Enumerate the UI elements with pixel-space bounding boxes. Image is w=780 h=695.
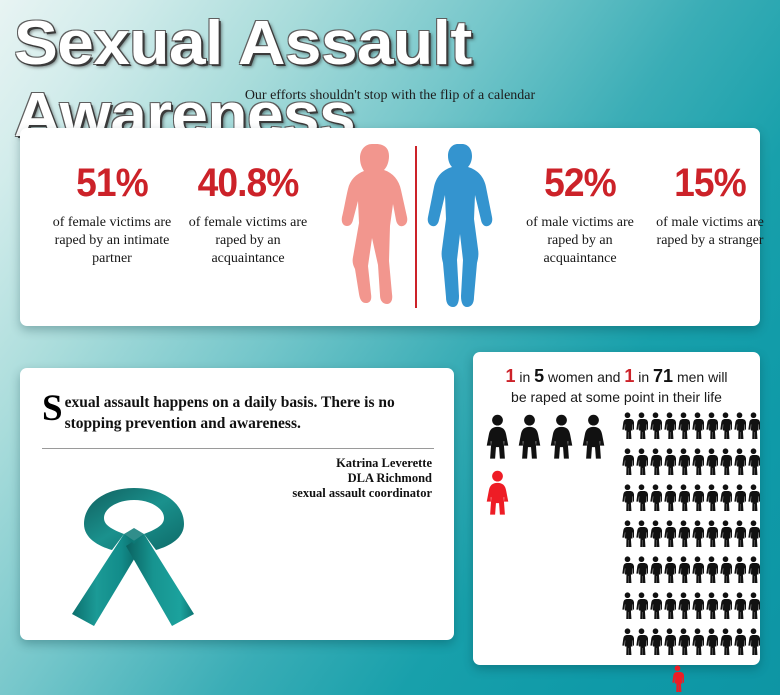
male-figure-icon xyxy=(677,412,690,444)
attribution-org: DLA Richmond xyxy=(102,471,432,486)
male-figure-icon xyxy=(691,448,704,480)
male-figure-icon xyxy=(705,628,718,660)
pictogram-row xyxy=(621,556,761,588)
male-figure-icon xyxy=(691,484,704,516)
male-figure-icon xyxy=(649,412,662,444)
ratio-text-men-will: men will xyxy=(673,369,727,385)
male-figure-icon xyxy=(719,520,732,552)
male-figure-icon xyxy=(733,412,746,444)
male-figure-icon xyxy=(635,484,648,516)
male-figure-icon xyxy=(677,484,690,516)
male-figure-icon xyxy=(621,448,634,480)
male-figure-icon xyxy=(747,592,760,624)
male-figure-icon xyxy=(663,592,676,624)
ratio-women-numerator: 1 xyxy=(505,366,515,386)
male-figure-icon xyxy=(733,556,746,588)
male-figure-icon xyxy=(705,448,718,480)
male-figure-icon xyxy=(733,628,746,660)
stat-block-female-acquaintance: 40.8% of female victims are raped by an … xyxy=(178,162,318,268)
male-figure-icon xyxy=(621,628,634,660)
ratio-text-in-1: in xyxy=(515,369,534,385)
pictogram-row-highlight xyxy=(671,665,761,695)
male-figure-icon xyxy=(691,592,704,624)
male-figure-icon xyxy=(705,520,718,552)
male-figure-icon xyxy=(705,484,718,516)
attribution-name: Katrina Leverette xyxy=(102,456,432,471)
statistics-card: 51% of female victims are raped by an in… xyxy=(20,128,760,326)
quote-card: Sexual assault happens on a daily basis.… xyxy=(20,368,454,640)
male-figure-icon xyxy=(621,484,634,516)
male-figure-icon xyxy=(747,484,760,516)
female-figure-icon xyxy=(485,414,510,464)
male-figure-icon xyxy=(677,628,690,660)
stat-block-male-stranger: 15% of male victims are raped by a stran… xyxy=(640,162,780,250)
pictogram-row xyxy=(621,628,761,660)
page-subtitle: Our efforts shouldn't stop with the flip… xyxy=(0,88,780,104)
ratio-heading: 1 in 5 women and 1 in 71 men will be rap… xyxy=(483,366,750,407)
male-figure-icon xyxy=(649,556,662,588)
male-figure-icon xyxy=(663,484,676,516)
male-figure-icon xyxy=(705,412,718,444)
male-figure-icon xyxy=(649,592,662,624)
male-figure-icon xyxy=(621,520,634,552)
male-figure-icon xyxy=(733,448,746,480)
male-figure-icon xyxy=(663,628,676,660)
pictogram-row-highlight xyxy=(485,470,613,520)
stat-block-female-intimate-partner: 51% of female victims are raped by an in… xyxy=(42,162,182,268)
pictogram-row xyxy=(621,484,761,516)
stat-label: of female victims are raped by an acquai… xyxy=(178,214,318,268)
male-figure-icon xyxy=(719,592,732,624)
male-figure-icon xyxy=(635,448,648,480)
male-figure-icon xyxy=(719,628,732,660)
pictogram-row xyxy=(621,448,761,480)
male-figure-icon xyxy=(733,592,746,624)
male-figure-icon xyxy=(691,412,704,444)
male-figure-icon xyxy=(733,484,746,516)
male-figure-icon xyxy=(719,412,732,444)
stat-label: of male victims are raped by a stranger xyxy=(640,214,780,250)
men-pictogram-group xyxy=(621,412,761,695)
stat-label: of male victims are raped by an acquaint… xyxy=(510,214,650,268)
male-figure-icon xyxy=(649,628,662,660)
male-figure-icon xyxy=(663,556,676,588)
male-figure-icon xyxy=(635,592,648,624)
male-figure-icon xyxy=(719,448,732,480)
male-figure-icon-highlighted xyxy=(671,665,684,695)
pictogram-row xyxy=(621,592,761,624)
male-figure-icon xyxy=(663,412,676,444)
gender-divider xyxy=(415,146,417,308)
ratio-card: 1 in 5 women and 1 in 71 men will be rap… xyxy=(473,352,760,665)
infographic-poster: Sexual Assault Awareness Our efforts sho… xyxy=(0,0,780,695)
female-figure-icon xyxy=(517,414,542,464)
female-figure-icon xyxy=(581,414,606,464)
male-figure-icon xyxy=(663,520,676,552)
male-figure-icon xyxy=(747,448,760,480)
male-figure-icon xyxy=(691,520,704,552)
awareness-ribbon-icon xyxy=(70,486,198,639)
male-figure-icon xyxy=(621,592,634,624)
women-pictogram-group xyxy=(485,414,613,520)
male-silhouette-icon xyxy=(418,142,498,317)
male-figure-icon xyxy=(747,556,760,588)
male-figure-icon xyxy=(733,520,746,552)
stat-value: 52% xyxy=(515,162,645,204)
stat-block-male-acquaintance: 52% of male victims are raped by an acqu… xyxy=(510,162,650,268)
female-figure-icon-highlighted xyxy=(485,470,510,520)
male-figure-icon xyxy=(635,628,648,660)
male-figure-icon xyxy=(719,556,732,588)
female-silhouette-icon xyxy=(320,140,412,317)
male-figure-icon xyxy=(691,556,704,588)
female-figure-icon xyxy=(549,414,574,464)
stat-value: 15% xyxy=(645,162,775,204)
male-figure-icon xyxy=(705,556,718,588)
quote-divider-rule xyxy=(42,448,434,449)
male-figure-icon xyxy=(649,484,662,516)
quote-text: Sexual assault happens on a daily basis.… xyxy=(42,392,434,434)
male-figure-icon xyxy=(677,592,690,624)
pictogram-row xyxy=(621,412,761,444)
pictogram-row xyxy=(621,520,761,552)
male-figure-icon xyxy=(719,484,732,516)
male-figure-icon xyxy=(649,448,662,480)
pictogram-row xyxy=(485,414,613,464)
male-figure-icon xyxy=(747,628,760,660)
male-figure-icon xyxy=(747,412,760,444)
male-figure-icon xyxy=(705,592,718,624)
stat-value: 40.8% xyxy=(183,162,313,204)
male-figure-icon xyxy=(663,448,676,480)
male-figure-icon xyxy=(621,412,634,444)
ratio-men-numerator: 1 xyxy=(624,366,634,386)
male-figure-icon xyxy=(635,520,648,552)
ratio-text-women-and: women and xyxy=(544,369,624,385)
male-figure-icon xyxy=(621,556,634,588)
male-figure-icon xyxy=(747,520,760,552)
male-figure-icon xyxy=(677,448,690,480)
male-figure-icon xyxy=(677,520,690,552)
male-figure-icon xyxy=(677,556,690,588)
stat-label: of female victims are raped by an intima… xyxy=(42,214,182,268)
male-figure-icon xyxy=(635,412,648,444)
ratio-text-in-2: in xyxy=(634,369,653,385)
stat-value: 51% xyxy=(47,162,177,204)
male-figure-icon xyxy=(635,556,648,588)
ratio-men-denominator: 71 xyxy=(653,366,673,386)
ratio-heading-line-2: be raped at some point in their life xyxy=(483,387,750,407)
ratio-women-denominator: 5 xyxy=(534,366,544,386)
male-figure-icon xyxy=(691,628,704,660)
poster-header: Sexual Assault Awareness Our efforts sho… xyxy=(0,0,780,118)
quote-drop-cap: S xyxy=(42,392,65,426)
male-figure-icon xyxy=(649,520,662,552)
quote-body: exual assault happens on a daily basis. … xyxy=(65,394,395,432)
